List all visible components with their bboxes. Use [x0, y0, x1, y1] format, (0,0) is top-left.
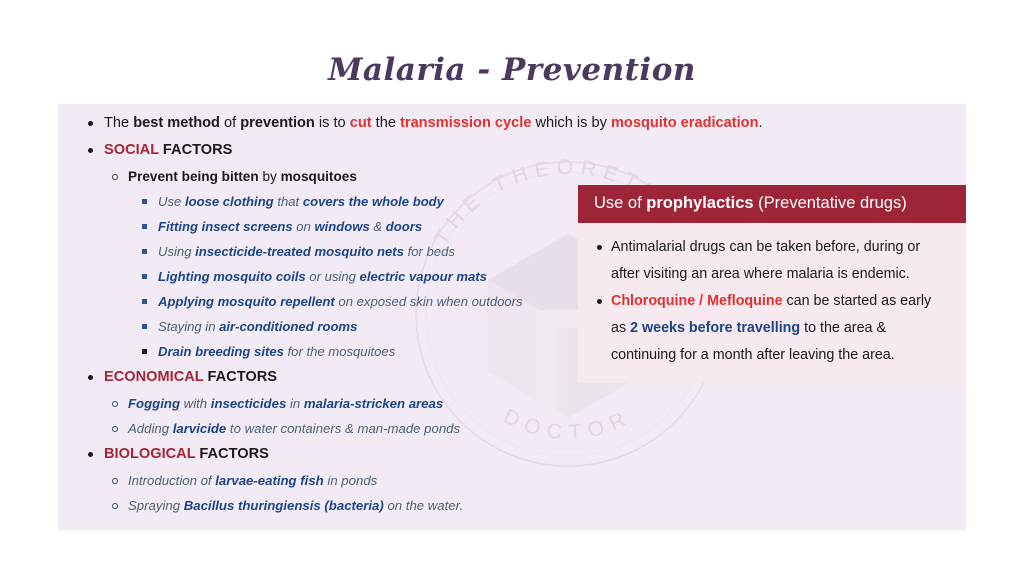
callout-header-bold: prophylactics — [646, 194, 753, 212]
s2-b: insecticide-treated mosquito nets — [195, 244, 404, 259]
c0-a: Antimalarial drugs can be taken before, … — [611, 239, 920, 282]
intro-cut: cut — [350, 115, 372, 131]
s5-a: Staying in — [158, 319, 219, 334]
e0-d: insecticides — [211, 396, 287, 411]
e1-b: larvicide — [173, 421, 227, 436]
list-item-mosquito-coils: Lighting mosquito coils or using electri… — [82, 264, 642, 289]
intro-t5: is to — [315, 115, 350, 131]
outline-list: The best method of prevention is to cut … — [82, 110, 642, 518]
s0-b: loose clothing — [185, 194, 274, 209]
prevent-bitten-b: by — [259, 169, 281, 184]
bullet-content: The best method of prevention is to cut … — [82, 110, 642, 518]
list-item-social-factors: SOCIAL FACTORS — [82, 137, 642, 164]
callout-header-pre: Use of — [594, 194, 646, 212]
e1-c: to water containers & man-made ponds — [226, 421, 460, 436]
social-factors-word: FACTORS — [159, 142, 233, 158]
list-item-loose-clothing: Use loose clothing that covers the whole… — [82, 189, 642, 214]
b1-b: Bacillus thuringiensis (bacteria) — [184, 498, 384, 513]
e0-f: malaria-stricken areas — [304, 396, 443, 411]
c1-drug-names: Chloroquine / Mefloquine — [611, 293, 783, 309]
economical-label: ECONOMICAL — [104, 369, 203, 385]
callout-list: Antimalarial drugs can be taken before, … — [592, 234, 950, 369]
intro-t7: the — [372, 115, 400, 131]
intro-best-method: best method — [133, 115, 220, 131]
s0-d: covers the whole body — [303, 194, 444, 209]
list-item-mosquito-nets: Using insecticide-treated mosquito nets … — [82, 239, 642, 264]
biological-factors-word: FACTORS — [195, 446, 269, 462]
e0-c: with — [180, 396, 211, 411]
list-item-drain-breeding-sites: Drain breeding sites for the mosquitoes — [82, 339, 642, 364]
s0-a: Use — [158, 194, 185, 209]
b0-b: larvae-eating fish — [215, 473, 323, 488]
biological-label: BIOLOGICAL — [104, 446, 195, 462]
prophylactics-callout: Use of prophylactics (Preventative drugs… — [578, 185, 966, 383]
s3-b: Lighting mosquito coils — [158, 269, 306, 284]
s1-e: & — [370, 219, 386, 234]
s2-c: for beds — [404, 244, 455, 259]
list-item-intro: The best method of prevention is to cut … — [82, 110, 642, 137]
s4-c: on exposed skin when outdoors — [335, 294, 523, 309]
prevent-bitten-c: mosquitoes — [281, 169, 357, 184]
s1-d: windows — [314, 219, 369, 234]
economical-factors-word: FACTORS — [203, 369, 277, 385]
b1-c: on the water. — [384, 498, 463, 513]
s3-d: electric vapour mats — [360, 269, 487, 284]
e0-b: Fogging — [128, 396, 180, 411]
intro-prevention: prevention — [240, 115, 315, 131]
e1-a: Adding — [128, 421, 173, 436]
intro-t3: of — [220, 115, 240, 131]
s3-c: or using — [306, 269, 360, 284]
b0-a: Introduction of — [128, 473, 215, 488]
list-item-fogging: Fogging with insecticides in malaria-str… — [82, 391, 642, 416]
intro-t9: which is by — [531, 115, 610, 131]
list-item-bacillus: Spraying Bacillus thuringiensis (bacteri… — [82, 493, 642, 518]
intro-mosquito-eradication: mosquito eradication — [611, 115, 759, 131]
list-item-larvicide: Adding larvicide to water containers & m… — [82, 416, 642, 441]
prevent-bitten-a: Prevent being bitten — [128, 169, 259, 184]
s6-b: Drain breeding sites — [158, 344, 284, 359]
content-panel: THE THEORETICAL DOCTOR The best method o… — [58, 104, 966, 530]
e0-e: in — [286, 396, 304, 411]
list-item-economical-factors: ECONOMICAL FACTORS — [82, 364, 642, 391]
callout-item-chloroquine: Chloroquine / Mefloquine can be started … — [592, 288, 950, 369]
callout-body: Antimalarial drugs can be taken before, … — [578, 223, 966, 383]
s6-c: for the mosquitoes — [284, 344, 395, 359]
s1-b: Fitting insect screens — [158, 219, 293, 234]
list-item-larvae-eating-fish: Introduction of larvae-eating fish in po… — [82, 468, 642, 493]
s4-b: Applying mosquito repellent — [158, 294, 335, 309]
s1-f: doors — [386, 219, 422, 234]
intro-t1: The — [104, 115, 133, 131]
s0-c: that — [274, 194, 303, 209]
page-title: Malaria - Prevention — [0, 52, 1024, 88]
s2-a: Using — [158, 244, 195, 259]
c1-timing: 2 weeks before travelling — [630, 320, 800, 336]
intro-t11: . — [759, 115, 763, 131]
callout-header-post: (Preventative drugs) — [754, 194, 907, 212]
b0-c: in ponds — [324, 473, 378, 488]
list-item-biological-factors: BIOLOGICAL FACTORS — [82, 441, 642, 468]
callout-item-antimalarial: Antimalarial drugs can be taken before, … — [592, 234, 950, 288]
social-label: SOCIAL — [104, 142, 159, 158]
callout-header: Use of prophylactics (Preventative drugs… — [578, 185, 966, 223]
list-item-insect-screens: Fitting insect screens on windows & door… — [82, 214, 642, 239]
b1-a: Spraying — [128, 498, 184, 513]
intro-transmission-cycle: transmission cycle — [400, 115, 531, 131]
s5-b: air-conditioned rooms — [219, 319, 357, 334]
s1-c: on — [293, 219, 315, 234]
list-item-prevent-bitten: Prevent being bitten by mosquitoes — [82, 164, 642, 189]
list-item-air-conditioned: Staying in air-conditioned rooms — [82, 314, 642, 339]
list-item-mosquito-repellent: Applying mosquito repellent on exposed s… — [82, 289, 642, 314]
